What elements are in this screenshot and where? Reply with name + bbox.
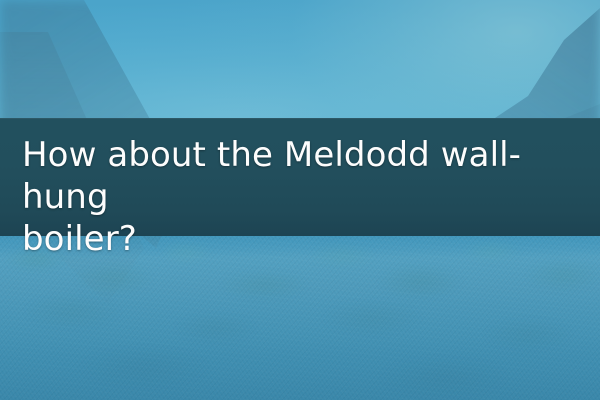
video-frame: How about the Meldodd wall-hung boiler? bbox=[0, 0, 600, 400]
caption-bar: How about the Meldodd wall-hung boiler? bbox=[0, 118, 600, 236]
caption-text: How about the Meldodd wall-hung boiler? bbox=[22, 134, 594, 260]
